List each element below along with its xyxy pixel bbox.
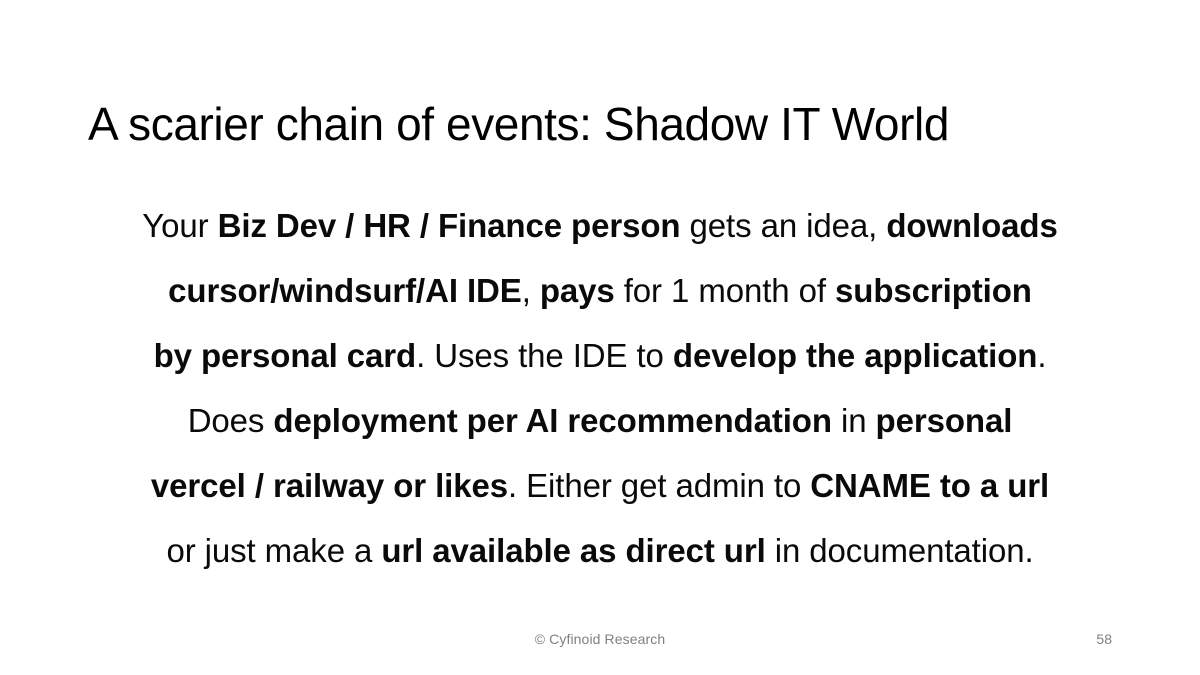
- body-text-run: Your: [142, 207, 217, 244]
- body-text-run: . Either get admin to: [508, 467, 810, 504]
- body-text-run: . Uses the IDE to: [416, 337, 673, 374]
- body-text-run: in documentation.: [766, 532, 1034, 569]
- slide-footer: © Cyfinoid Research 58: [0, 631, 1200, 655]
- body-line: cursor/windsurf/AI IDE, pays for 1 month…: [60, 258, 1140, 323]
- footer-copyright: © Cyfinoid Research: [0, 631, 1200, 647]
- body-text-run: ,: [522, 272, 540, 309]
- body-text-run: gets an idea,: [680, 207, 886, 244]
- body-text-run: in: [832, 402, 876, 439]
- body-emphasis: downloads: [886, 207, 1057, 244]
- slide-page-number: 58: [1096, 631, 1112, 647]
- body-emphasis: Biz Dev / HR / Finance person: [218, 207, 681, 244]
- body-emphasis: pays: [540, 272, 615, 309]
- page-title: A scarier chain of events: Shadow IT Wor…: [88, 97, 1118, 151]
- slide-body-text: Your Biz Dev / HR / Finance person gets …: [60, 193, 1140, 583]
- body-emphasis: subscription: [835, 272, 1032, 309]
- body-emphasis: personal: [876, 402, 1013, 439]
- body-emphasis: cursor/windsurf/AI IDE: [168, 272, 522, 309]
- body-line: Does deployment per AI recommendation in…: [60, 388, 1140, 453]
- slide-canvas: A scarier chain of events: Shadow IT Wor…: [0, 0, 1200, 675]
- body-text-run: .: [1037, 337, 1046, 374]
- body-emphasis: CNAME to a url: [810, 467, 1049, 504]
- body-line: or just make a url available as direct u…: [60, 518, 1140, 583]
- body-line: vercel / railway or likes. Either get ad…: [60, 453, 1140, 518]
- body-emphasis: vercel / railway or likes: [151, 467, 508, 504]
- body-line: by personal card. Uses the IDE to develo…: [60, 323, 1140, 388]
- body-text-run: Does: [188, 402, 274, 439]
- body-line: Your Biz Dev / HR / Finance person gets …: [60, 193, 1140, 258]
- body-text-run: or just make a: [166, 532, 381, 569]
- body-text-run: for 1 month of: [615, 272, 835, 309]
- body-emphasis: url available as direct url: [381, 532, 765, 569]
- body-emphasis: develop the application: [673, 337, 1037, 374]
- body-emphasis: by personal card: [154, 337, 417, 374]
- body-emphasis: deployment per AI recommendation: [273, 402, 832, 439]
